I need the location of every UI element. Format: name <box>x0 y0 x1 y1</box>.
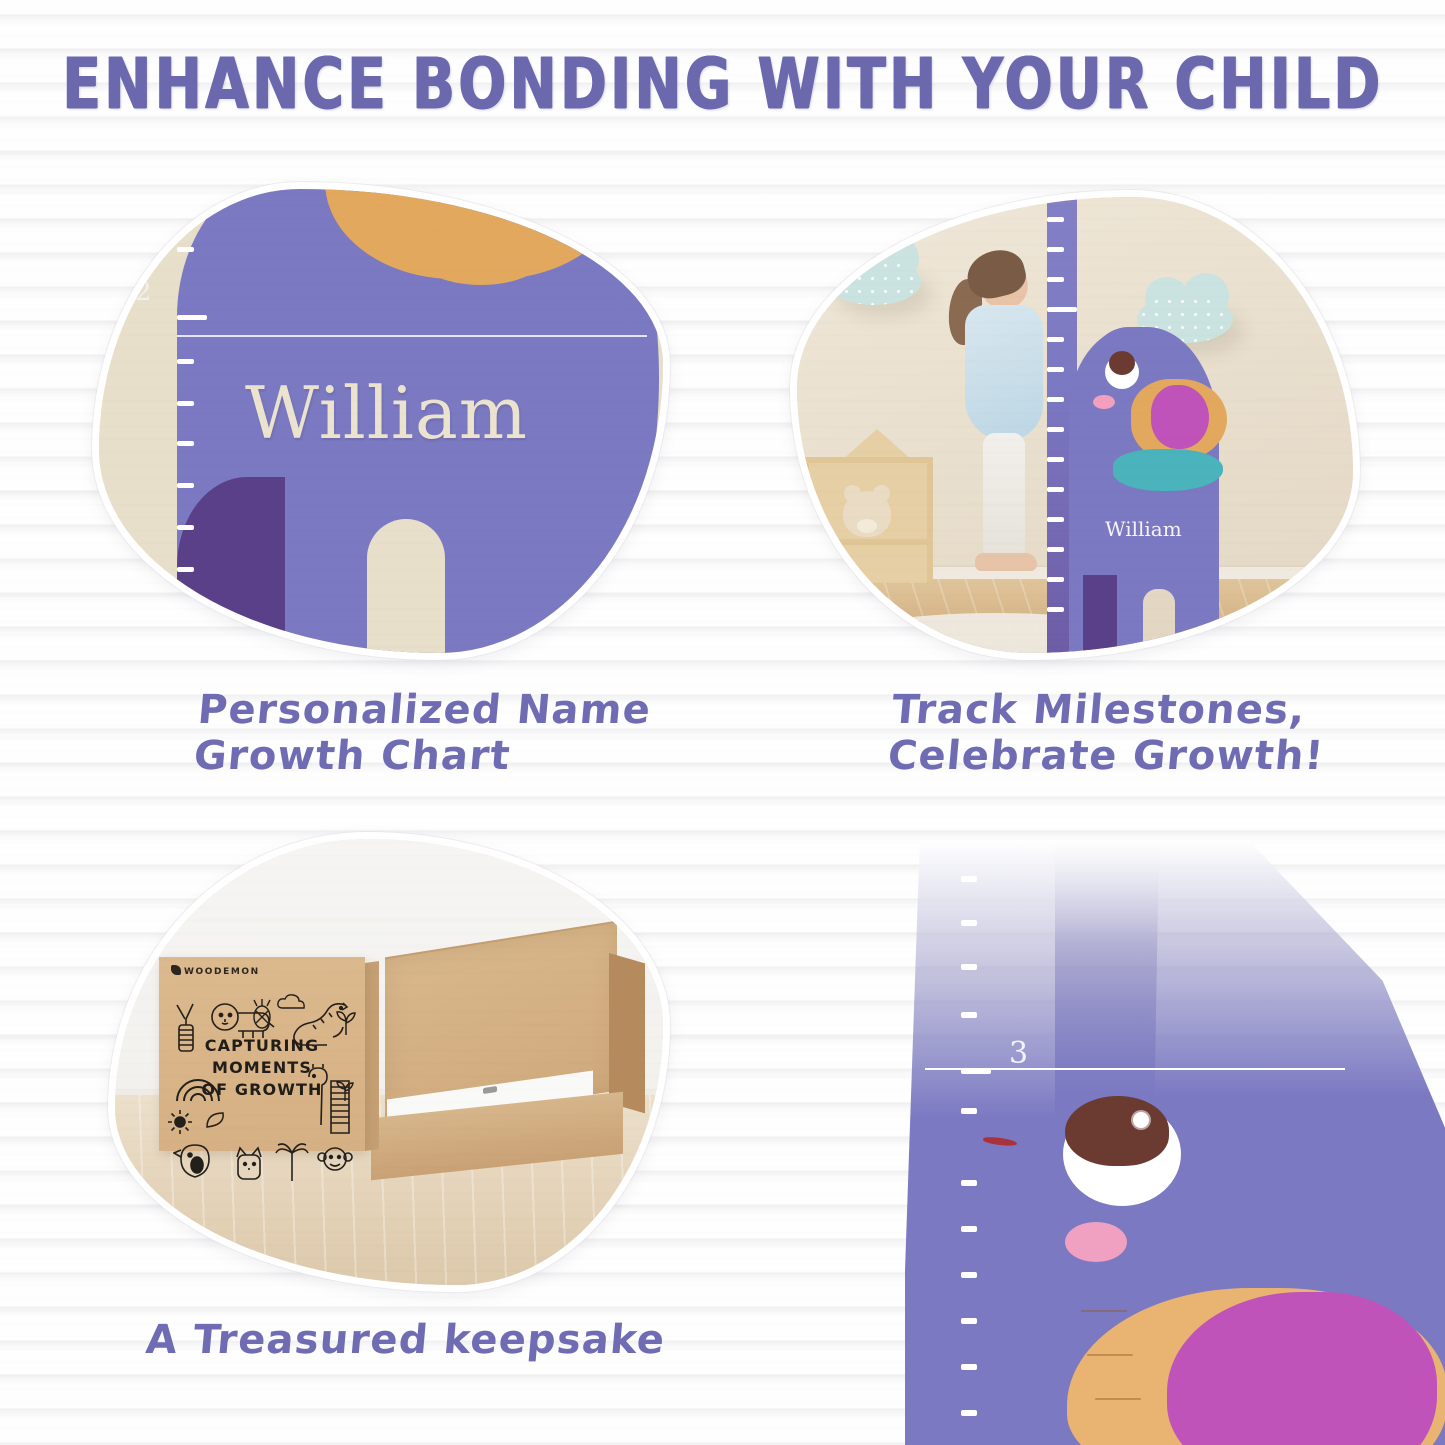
caption-line-1: Personalized Name <box>196 688 653 734</box>
closeup-guide-line <box>925 1068 1345 1070</box>
slogan-line-1: CAPTURING <box>159 1035 365 1057</box>
cat-doodle-icon <box>231 1145 267 1183</box>
cloud-pillow-left <box>827 259 921 305</box>
ruler-scale <box>177 182 207 660</box>
closeup-cheek-blush <box>1065 1222 1127 1262</box>
panel-lifestyle-room: William <box>790 190 1360 660</box>
chart-elephant-teal-accent <box>1113 449 1223 491</box>
cloud-doodle-icon <box>277 993 305 1011</box>
sun-doodle-icon <box>167 1109 193 1135</box>
panel-personalized-name-chart: 2 William <box>92 182 670 660</box>
elephant-trunk-curl <box>607 527 669 615</box>
closeup-eye-highlight <box>1133 1112 1149 1128</box>
chart-elephant-leg-gap <box>1143 589 1175 660</box>
caption-track-milestones: Track Milestones, Celebrate Growth! <box>886 688 1330 779</box>
slogan-line-2: MOMENTS <box>159 1057 365 1079</box>
caption-line-2: Celebrate Growth! <box>886 734 1326 780</box>
closed-box-side-edge <box>365 961 379 1151</box>
chart-elephant-eye <box>1105 355 1139 389</box>
palm-tree-doodle-icon <box>273 1139 311 1183</box>
chart-elephant-body: William <box>1069 327 1219 660</box>
marketing-image-canvas: ENHANCE BONDING WITH YOUR CHILD <box>0 0 1445 1445</box>
chart-elephant-cheek <box>1093 395 1115 409</box>
personalized-name-text: William <box>245 371 528 455</box>
caption-treasured-keepsake: A Treasured keepsake <box>144 1318 667 1364</box>
closeup-eye-pupil <box>1065 1096 1169 1166</box>
leaf-doodle-icon <box>203 1109 227 1131</box>
child-standing <box>943 257 1063 597</box>
wall-growth-chart: William <box>1047 191 1237 660</box>
closeup-elephant-detail: 3 <box>905 840 1445 1445</box>
slogan-line-3: OF GROWTH <box>159 1079 365 1101</box>
bird-doodle-icon <box>173 1141 217 1181</box>
brand-mark-icon <box>171 965 181 975</box>
headline-text: ENHANCE BONDING WITH YOUR CHILD <box>62 42 1383 125</box>
child-feet <box>975 553 1037 571</box>
caption-line-2: Growth Chart <box>192 734 649 780</box>
headline-banner: ENHANCE BONDING WITH YOUR CHILD <box>0 42 1445 110</box>
height-guide-line <box>177 335 647 337</box>
caption-personalized-name: Personalized Name Growth Chart <box>192 688 653 779</box>
teddy-bear-snout <box>857 519 877 533</box>
brand-logo: WOODEMON <box>171 965 260 977</box>
closed-printed-box: WOODEMON <box>159 957 365 1151</box>
monkey-doodle-icon <box>317 1143 353 1177</box>
fruit-plate <box>805 532 831 541</box>
chart-elephant-ear-magenta <box>1151 385 1209 449</box>
box-slogan: CAPTURING MOMENTS OF GROWTH <box>159 1035 365 1101</box>
elephant-leg-gap <box>367 519 445 660</box>
chart-elephant-rear-leg <box>1083 575 1117 660</box>
sprout-doodle-icon <box>335 1007 357 1037</box>
ruler-label-2: 2 <box>135 277 152 307</box>
child-leggings <box>983 433 1025 561</box>
brand-name-text: WOODEMON <box>184 967 260 977</box>
open-box-side-flap <box>609 953 645 1113</box>
pineapple-doodle-icon <box>251 997 273 1031</box>
child-dress <box>965 305 1043 441</box>
chart-personalized-name: William <box>1105 517 1182 541</box>
panel-packaging: WOODEMON <box>108 832 670 1292</box>
closeup-ruler-label-3: 3 <box>1009 1036 1028 1071</box>
caption-line-1: Track Milestones, <box>890 688 1330 734</box>
